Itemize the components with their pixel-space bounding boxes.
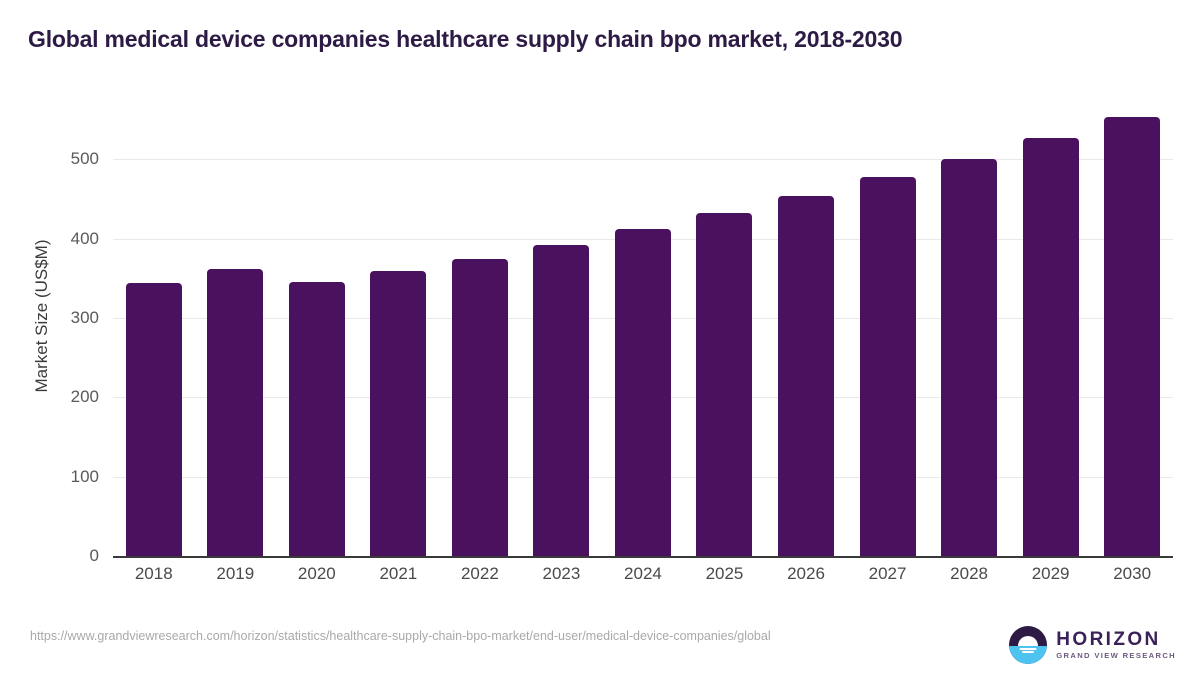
bar[interactable] — [860, 177, 916, 556]
x-axis-tick-label: 2024 — [602, 564, 684, 584]
source-url[interactable]: https://www.grandviewresearch.com/horizo… — [30, 628, 960, 645]
horizon-logo[interactable]: HORIZON GRAND VIEW RESEARCH — [1009, 626, 1176, 664]
x-axis-tick-label: 2025 — [684, 564, 766, 584]
bar-slot — [521, 96, 603, 556]
y-axis-tick-label: 0 — [90, 546, 99, 566]
x-axis-labels: 2018201920202021202220232024202520262027… — [113, 564, 1173, 584]
bar[interactable] — [1104, 117, 1160, 556]
bar-slot — [847, 96, 929, 556]
y-axis-tick-label: 200 — [71, 387, 99, 407]
bar[interactable] — [289, 282, 345, 556]
bar[interactable] — [126, 283, 182, 556]
x-axis-line — [113, 556, 1173, 558]
bar[interactable] — [615, 229, 671, 556]
chart-footer: https://www.grandviewresearch.com/horizo… — [0, 622, 1200, 675]
logo-dome-shape — [1018, 636, 1038, 646]
bar-slot — [1010, 96, 1092, 556]
bar-slot — [684, 96, 766, 556]
bar[interactable] — [533, 245, 589, 556]
x-axis-tick-label: 2019 — [195, 564, 277, 584]
logo-wordmark: HORIZON — [1056, 630, 1176, 649]
bar-slot — [113, 96, 195, 556]
x-axis-tick-label: 2026 — [765, 564, 847, 584]
bar-slot — [276, 96, 358, 556]
bar-slot — [928, 96, 1010, 556]
bar[interactable] — [778, 196, 834, 556]
chart-page: Global medical device companies healthca… — [0, 0, 1200, 675]
logo-tagline: GRAND VIEW RESEARCH — [1056, 652, 1176, 660]
x-axis-tick-label: 2027 — [847, 564, 929, 584]
logo-text-block: HORIZON GRAND VIEW RESEARCH — [1056, 630, 1176, 660]
y-axis-tick-label: 300 — [71, 308, 99, 328]
x-axis-tick-label: 2028 — [928, 564, 1010, 584]
bars-group — [113, 96, 1173, 556]
x-axis-tick-label: 2030 — [1091, 564, 1173, 584]
x-axis-tick-label: 2029 — [1010, 564, 1092, 584]
bar-slot — [765, 96, 847, 556]
logo-line-2 — [1022, 651, 1034, 653]
x-axis-tick-label: 2018 — [113, 564, 195, 584]
bar-slot — [358, 96, 440, 556]
y-axis-tick-label: 500 — [71, 149, 99, 169]
logo-line-1 — [1020, 648, 1037, 650]
plot-area: 0100200300400500 — [113, 96, 1173, 558]
horizon-logo-icon — [1009, 626, 1047, 664]
x-axis-tick-label: 2023 — [521, 564, 603, 584]
page-title: Global medical device companies healthca… — [28, 26, 902, 53]
bar[interactable] — [1023, 138, 1079, 556]
x-axis-tick-label: 2022 — [439, 564, 521, 584]
y-axis-title: Market Size (US$M) — [32, 116, 52, 516]
bar[interactable] — [370, 271, 426, 556]
bar-slot — [602, 96, 684, 556]
bar-slot — [195, 96, 277, 556]
y-axis-tick-label: 400 — [71, 229, 99, 249]
chart-plot-wrapper: Market Size (US$M) 0100200300400500 2018… — [0, 96, 1200, 596]
bar-slot — [1091, 96, 1173, 556]
x-axis-tick-label: 2020 — [276, 564, 358, 584]
y-axis-tick-label: 100 — [71, 467, 99, 487]
bar-slot — [439, 96, 521, 556]
bar[interactable] — [207, 269, 263, 556]
bar[interactable] — [696, 213, 752, 556]
bar[interactable] — [452, 259, 508, 556]
x-axis-tick-label: 2021 — [358, 564, 440, 584]
bar[interactable] — [941, 159, 997, 556]
